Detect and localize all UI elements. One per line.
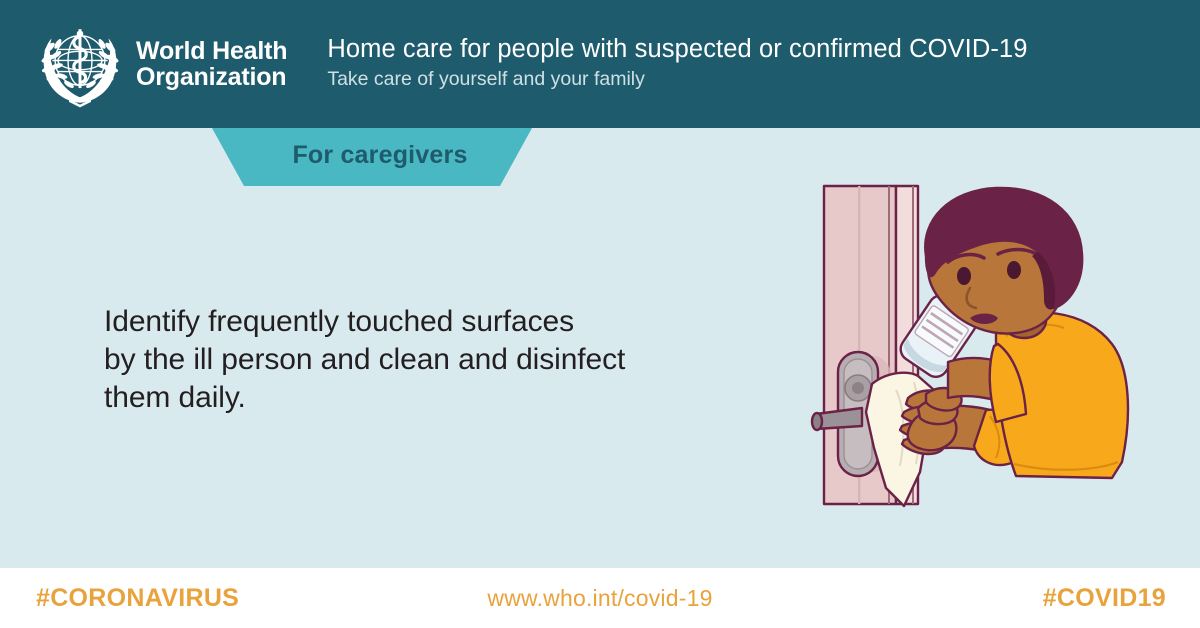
person-disinfecting-door-handle-illustration: .ol { stroke:#6B2247; stroke-width:2.4; … <box>800 176 1150 536</box>
page-subtitle: Take care of yourself and your family <box>327 67 1027 92</box>
audience-banner: For caregivers <box>200 128 560 186</box>
footer-bar: #CORONAVIRUS www.who.int/covid-19 #COVID… <box>0 568 1200 628</box>
who-wordmark-line2: Organization <box>136 64 287 90</box>
header-text-block: Home care for people with suspected or c… <box>327 35 1027 93</box>
advice-message-line2: by the ill person and clean and disinfec… <box>104 341 744 379</box>
advice-message-line3: them daily. <box>104 379 744 417</box>
who-covid-url[interactable]: www.who.int/covid-19 <box>0 568 1200 628</box>
who-wordmark: World Health Organization <box>136 38 287 91</box>
who-emblem-icon <box>34 20 126 108</box>
advice-message-line1: Identify frequently touched surfaces <box>104 303 744 341</box>
who-covid19-infographic: World Health Organization Home care for … <box>0 0 1200 628</box>
banner-label: For caregivers <box>200 128 560 186</box>
page-title: Home care for people with suspected or c… <box>327 35 1027 64</box>
header-bar: World Health Organization Home care for … <box>0 0 1200 128</box>
advice-message: Identify frequently touched surfaces by … <box>104 303 744 417</box>
who-wordmark-line1: World Health <box>136 38 287 64</box>
hashtag-covid19[interactable]: #COVID19 <box>1043 568 1166 628</box>
